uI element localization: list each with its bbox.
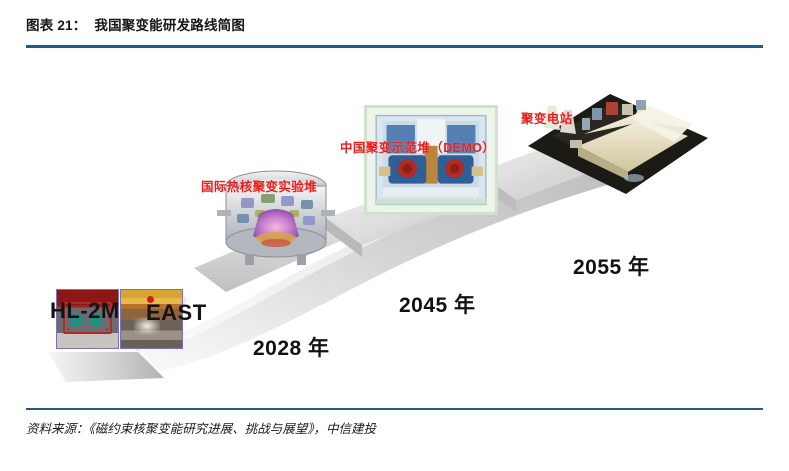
roadmap-figure: HL-2M EAST 现有装置 国际热核聚变实验堆 中国聚变示范堆（DEMO） …	[26, 52, 763, 402]
label-device-hl2m: HL-2M	[50, 300, 120, 322]
header-divider	[26, 45, 763, 48]
footer-divider	[26, 408, 763, 410]
label-device-east: EAST	[146, 302, 207, 324]
caption-demo: 中国聚变示范堆（DEMO）	[340, 142, 495, 155]
exhibit-page: 图表 21： 我国聚变能研发路线简图	[0, 0, 789, 471]
year-label-2045: 2045 年	[399, 295, 476, 316]
page-title: 图表 21： 我国聚变能研发路线简图	[26, 14, 245, 34]
year-label-2028: 2028 年	[253, 338, 330, 359]
caption-iter: 国际热核聚变实验堆	[201, 181, 317, 194]
fusion-power-plant-illustration	[522, 80, 712, 200]
source-note: 资料来源：《磁约束核聚变能研究进展、挑战与展望》，中信建投	[26, 418, 376, 437]
year-label-2055: 2055 年	[573, 257, 650, 278]
caption-power-plant: 聚变电站	[521, 113, 573, 126]
demo-reactor-illustration	[364, 105, 498, 215]
